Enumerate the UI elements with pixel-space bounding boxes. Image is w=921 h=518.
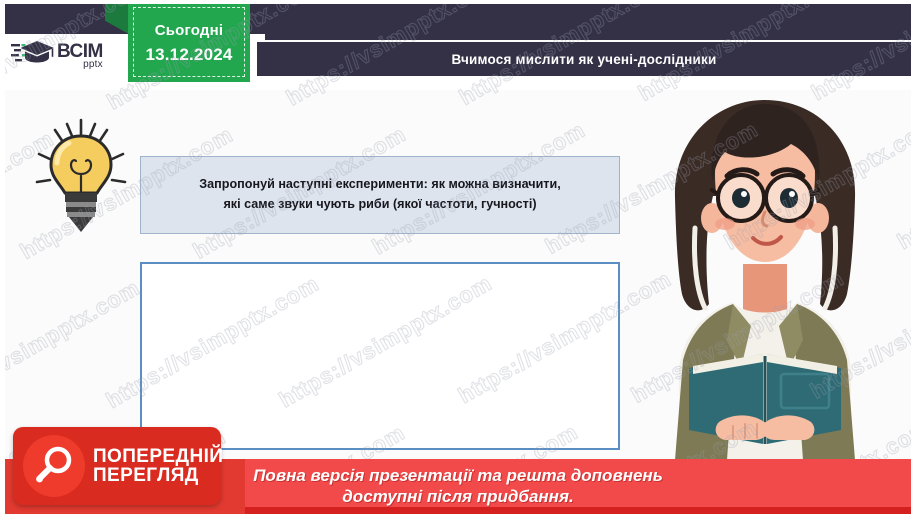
question-line-2: які саме звуки чують риби (якої частоти,…	[199, 195, 560, 215]
preview-badge: ПОПЕРЕДНІЙ ПЕРЕГЛЯД	[13, 427, 221, 505]
slide-root: https://vsimpptx.comhttps://vsimpptx.com…	[0, 0, 921, 518]
preview-badge-line-2: ПЕРЕГЛЯД	[93, 466, 223, 485]
lightbulb-icon	[29, 116, 133, 236]
magnifier-icon	[23, 435, 85, 497]
purchase-notice-line-2: доступні після придбання.	[342, 487, 573, 508]
question-text: Запропонуй наступні експерименти: як мож…	[199, 175, 560, 214]
girl-with-book-illustration	[615, 78, 911, 460]
date-badge-value: 13.12.2024	[145, 45, 232, 65]
date-badge-label: Сьогодні	[155, 22, 224, 39]
date-badge: Сьогодні 13.12.2024	[128, 4, 250, 82]
graduation-cap-icon	[11, 38, 55, 74]
header-title: Вчимося мислити як учені-дослідники	[452, 52, 717, 67]
brand-logo: ВСІМ pptx	[11, 34, 119, 78]
preview-badge-text: ПОПЕРЕДНІЙ ПЕРЕГЛЯД	[93, 447, 223, 486]
watermark-text: https://vsimpptx.com	[5, 275, 144, 417]
brand-wordmark: ВСІМ pptx	[57, 42, 103, 70]
slide-canvas: https://vsimpptx.comhttps://vsimpptx.com…	[5, 4, 911, 514]
question-line-1: Запропонуй наступні експерименти: як мож…	[199, 175, 560, 195]
purchase-notice-line-1: Повна версія презентації та решта доповн…	[253, 466, 663, 487]
answer-input-box[interactable]	[140, 262, 620, 450]
preview-badge-line-1: ПОПЕРЕДНІЙ	[93, 447, 223, 466]
header-banner: Вчимося мислити як учені-дослідники	[257, 42, 911, 76]
question-box: Запропонуй наступні експерименти: як мож…	[140, 156, 620, 234]
